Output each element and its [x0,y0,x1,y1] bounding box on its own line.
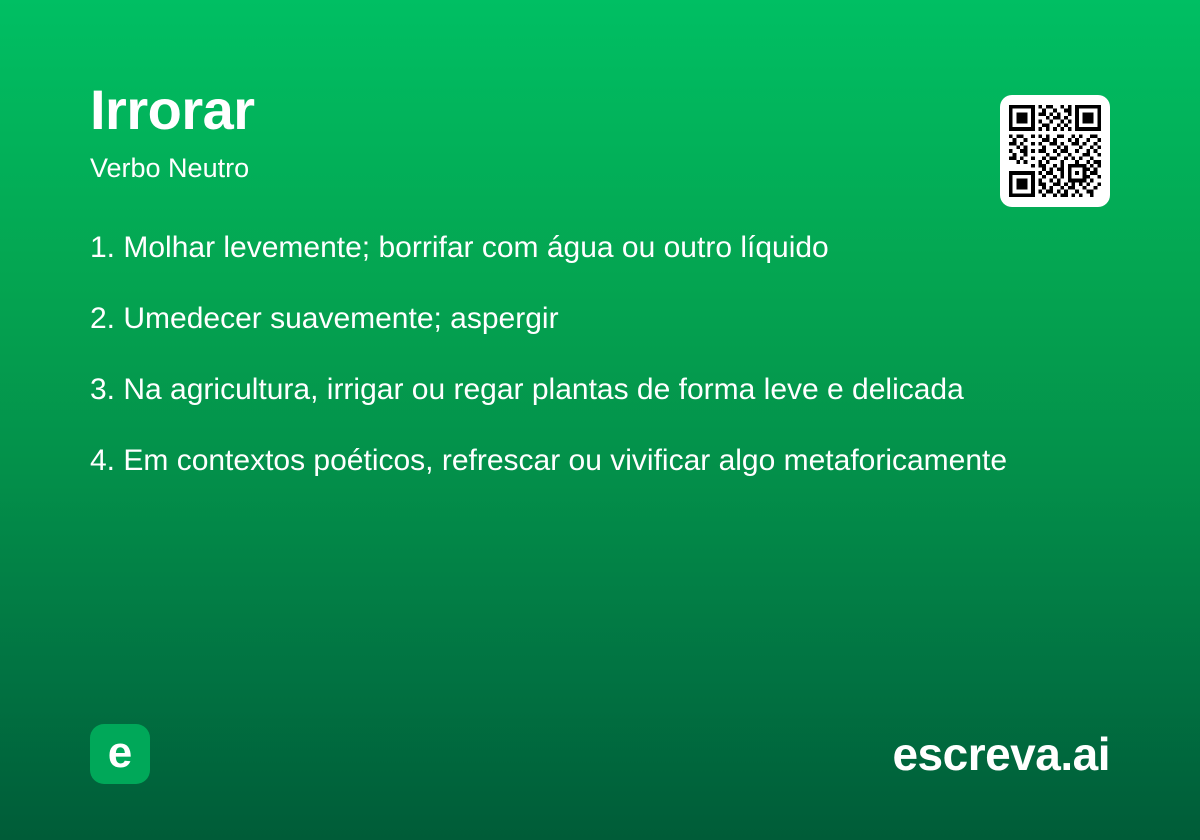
list-item: 3. Na agricultura, irrigar ou regar plan… [90,370,1025,409]
word-definition-card: Irrorar Verbo Neutro [0,0,1200,840]
definition-list: 1. Molhar levemente; borrifar com água o… [90,184,1110,480]
list-item: 2. Umedecer suavemente; aspergir [90,299,1025,338]
logo-letter: e [108,731,132,775]
list-item: 4. Em contextos poéticos, refrescar ou v… [90,441,1025,480]
qr-code-icon [1009,104,1101,198]
brand-wordmark: escreva.ai [892,731,1110,777]
qr-code[interactable] [1000,95,1110,207]
list-item: 1. Molhar levemente; borrifar com água o… [90,228,1025,267]
word-class-label: Verbo Neutro [90,152,1110,184]
page-title: Irrorar [90,82,1110,138]
card-header: Irrorar Verbo Neutro [90,0,1110,184]
escreva-logo-icon: e [90,724,150,784]
card-footer: e escreva.ai [90,723,1110,785]
